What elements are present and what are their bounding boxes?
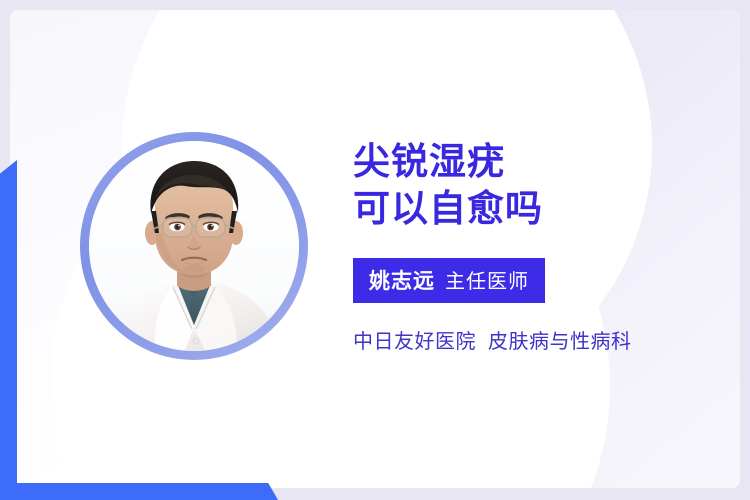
doctor-portrait-photo [89, 141, 299, 351]
poster-canvas: 尖锐湿疣 可以自愈吗 姚志远主任医师 中日友好医院皮肤病与性病科 [0, 0, 750, 500]
hospital-name: 中日友好医院 [353, 331, 476, 353]
avatar-inner [89, 141, 299, 351]
accent-band-bottom [0, 483, 278, 500]
accent-band-left [0, 160, 17, 500]
affiliation: 中日友好医院皮肤病与性病科 [353, 325, 723, 354]
doctor-name: 姚志远 [369, 270, 435, 293]
avatar [80, 132, 308, 360]
doctor-rank: 主任医师 [445, 271, 529, 293]
page-title: 尖锐湿疣 可以自愈吗 [353, 138, 723, 232]
poster-card: 尖锐湿疣 可以自愈吗 姚志远主任医师 中日友好医院皮肤病与性病科 [10, 10, 740, 488]
text-column: 尖锐湿疣 可以自愈吗 姚志远主任医师 中日友好医院皮肤病与性病科 [353, 138, 723, 354]
department-name: 皮肤病与性病科 [488, 331, 632, 353]
doctor-badge: 姚志远主任医师 [353, 258, 545, 303]
